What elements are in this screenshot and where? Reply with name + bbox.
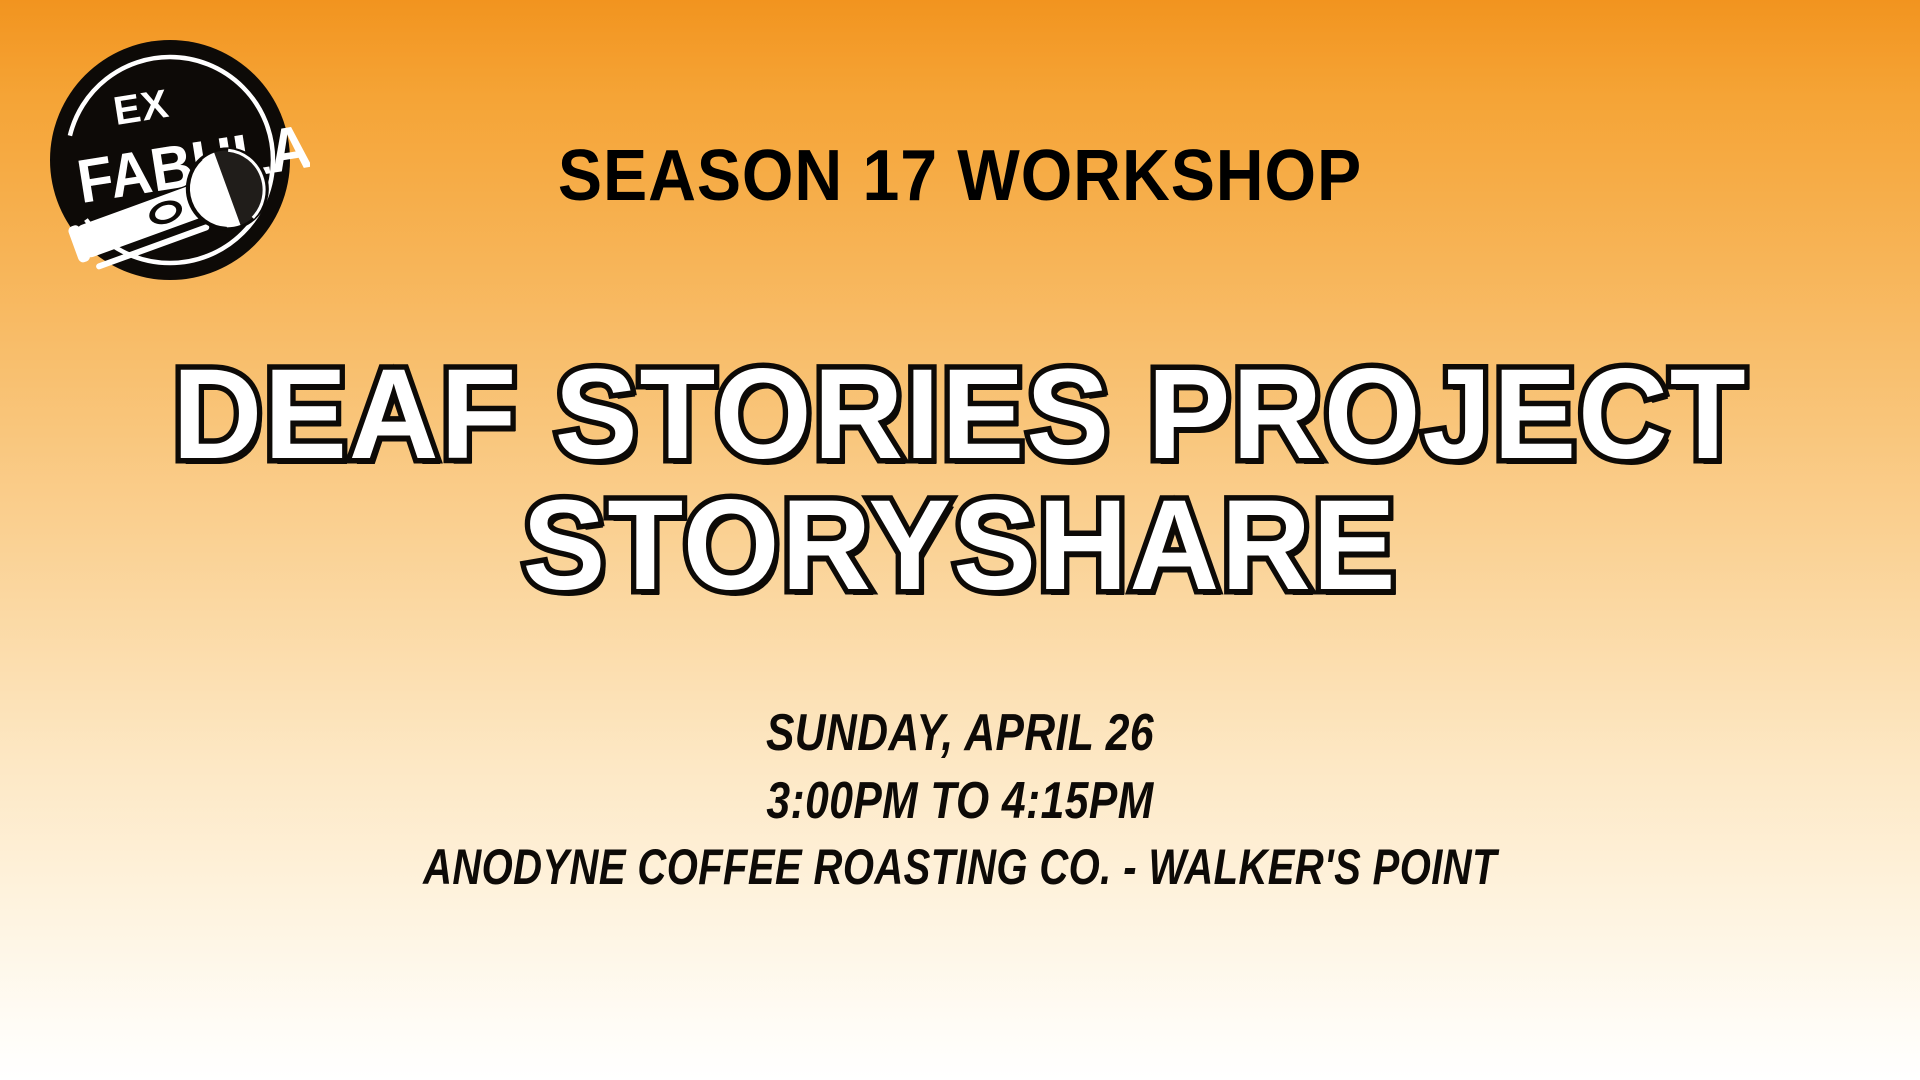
- event-flyer: EX FABULA SEASON: [0, 0, 1920, 1080]
- event-title-line-2: STORYSHARE: [29, 481, 1891, 612]
- event-title: DEAF STORIES PROJECT STORYSHARE: [0, 350, 1920, 611]
- event-time: 3:00PM TO 4:15PM: [173, 768, 1747, 836]
- season-kicker: SEASON 17 WORKSHOP: [77, 140, 1843, 212]
- event-date: SUNDAY, APRIL 26: [173, 700, 1747, 768]
- event-title-line-1: DEAF STORIES PROJECT: [29, 350, 1891, 481]
- event-details: SUNDAY, APRIL 26 3:00PM TO 4:15PM ANODYN…: [0, 700, 1920, 900]
- logo-text-ex: EX: [111, 82, 173, 134]
- event-venue: ANODYNE COFFEE ROASTING CO. - WALKER'S P…: [192, 835, 1728, 900]
